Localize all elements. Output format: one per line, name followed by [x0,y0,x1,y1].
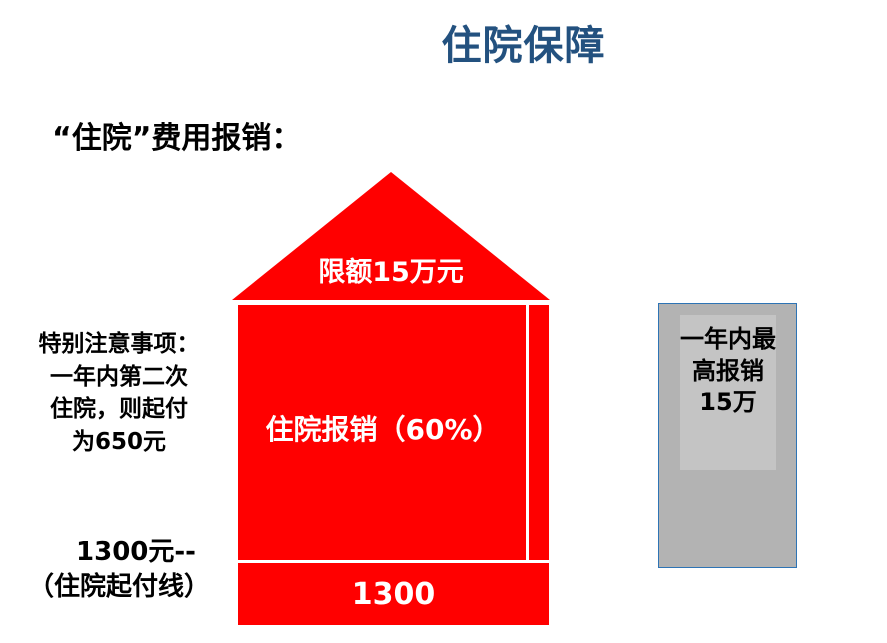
deductible-value-label: 1300 [238,577,549,612]
deductible-label: 1300元-- （住院起付线） [8,535,230,605]
deductible-amount: 1300元-- [8,535,230,570]
special-notice-text: 特别注意事项： 一年内第二次 住院，则起付 为650元 [8,328,230,459]
house-roof: 限额15万元 [232,172,550,300]
max-reimbursement-inner-box: 一年内最高报销15万 [680,315,776,470]
body-vertical-divider [526,305,529,560]
deductible-description: （住院起付线） [8,570,230,605]
reimbursement-rate-label: 住院报销（60%） [238,413,528,447]
section-subtitle: “住院”费用报销： [52,120,301,158]
house-body: 住院报销（60%） [238,305,549,560]
roof-limit-label: 限额15万元 [232,250,550,289]
page-title: 住院保障 [0,22,887,70]
max-reimbursement-text: 一年内最高报销15万 [680,324,776,419]
max-reimbursement-panel: 一年内最高报销15万 [658,303,797,568]
hospitalization-house-diagram: 限额15万元 住院报销（60%） 1300 [232,172,552,627]
house-footer: 1300 [238,563,549,625]
